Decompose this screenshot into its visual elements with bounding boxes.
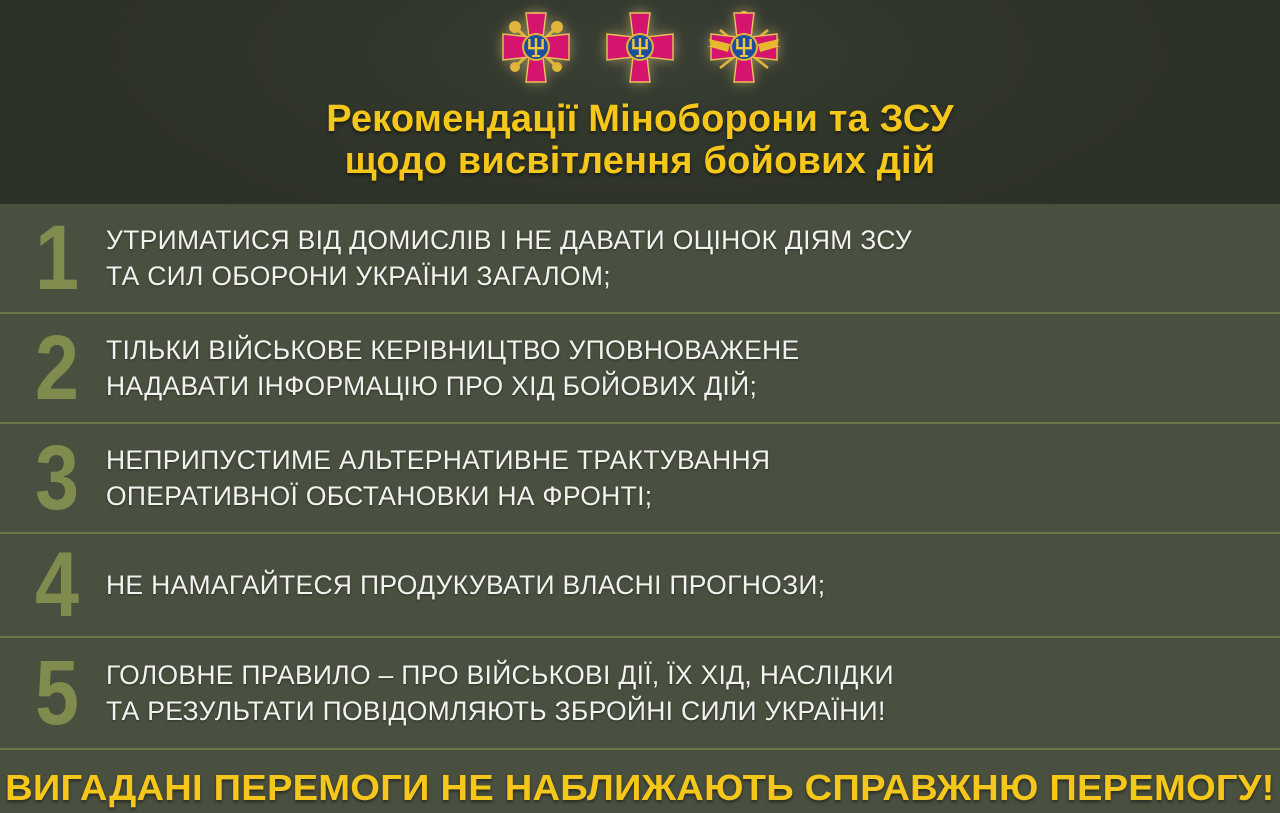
rule-text-1-line-1: УТРИМАТИСЯ ВІД ДОМИСЛІВ І НЕ ДАВАТИ ОЦІН… [106,222,912,258]
page-title: Рекомендації Міноборони та ЗСУ щодо висв… [0,92,1280,182]
rule-text-3-line-1: НЕПРИПУСТИМЕ АЛЬТЕРНАТИВНЕ ТРАКТУВАННЯ [106,442,770,478]
rule-text-5: ГОЛОВНЕ ПРАВИЛО – ПРО ВІЙСЬКОВІ ДІЇ, ЇХ … [100,657,894,729]
rule-item-4: 4 НЕ НАМАГАЙТЕСЯ ПРОДУКУВАТИ ВЛАСНІ ПРОГ… [0,534,1280,638]
rule-text-1-line-2: ТА СИЛ ОБОРОНИ УКРАЇНИ ЗАГАЛОМ; [106,258,912,294]
rule-text-3: НЕПРИПУСТИМЕ АЛЬТЕРНАТИВНЕ ТРАКТУВАННЯ О… [100,442,770,514]
title-line-1: Рекомендації Міноборони та ЗСУ [0,98,1280,140]
rule-item-3: 3 НЕПРИПУСТИМЕ АЛЬТЕРНАТИВНЕ ТРАКТУВАННЯ… [0,424,1280,534]
rule-text-4: НЕ НАМАГАЙТЕСЯ ПРОДУКУВАТИ ВЛАСНІ ПРОГНО… [100,567,825,603]
footer-banner: ВИГАДАНІ ПЕРЕМОГИ НЕ НАБЛИЖАЮТЬ СПРАВЖНЮ… [0,748,1280,813]
rule-text-1: УТРИМАТИСЯ ВІД ДОМИСЛІВ І НЕ ДАВАТИ ОЦІН… [100,222,912,294]
rule-text-5-line-2: ТА РЕЗУЛЬТАТИ ПОВІДОМЛЯЮТЬ ЗБРОЙНІ СИЛИ … [106,693,894,729]
rule-text-5-line-1: ГОЛОВНЕ ПРАВИЛО – ПРО ВІЙСЬКОВІ ДІЇ, ЇХ … [106,657,894,693]
title-line-2: щодо висвітлення бойових дій [0,140,1280,182]
rule-item-1: 1 УТРИМАТИСЯ ВІД ДОМИСЛІВ І НЕ ДАВАТИ ОЦ… [0,204,1280,314]
rule-text-2-line-1: ТІЛЬКИ ВІЙСЬКОВЕ КЕРІВНИЦТВО УПОВНОВАЖЕН… [106,332,799,368]
poster-root: Рекомендації Міноборони та ЗСУ щодо висв… [0,0,1280,813]
footer-slogan: ВИГАДАНІ ПЕРЕМОГИ НЕ НАБЛИЖАЮТЬ СПРАВЖНЮ… [5,768,1274,808]
emblem-row [0,0,1280,92]
header-banner: Рекомендації Міноборони та ЗСУ щодо висв… [0,0,1280,204]
rule-text-4-line-1: НЕ НАМАГАЙТЕСЯ ПРОДУКУВАТИ ВЛАСНІ ПРОГНО… [106,567,825,603]
rules-list: 1 УТРИМАТИСЯ ВІД ДОМИСЛІВ І НЕ ДАВАТИ ОЦ… [0,204,1280,748]
rule-number-2: 2 [20,325,94,411]
rule-number-3: 3 [20,435,94,521]
rule-item-5: 5 ГОЛОВНЕ ПРАВИЛО – ПРО ВІЙСЬКОВІ ДІЇ, Ї… [0,638,1280,748]
rule-text-3-line-2: ОПЕРАТИВНОЇ ОБСТАНОВКИ НА ФРОНТІ; [106,478,770,514]
rule-number-1: 1 [20,215,94,301]
armed-forces-emblem-icon [600,6,680,88]
rule-item-2: 2 ТІЛЬКИ ВІЙСЬКОВЕ КЕРІВНИЦТВО УПОВНОВАЖ… [0,314,1280,424]
rule-number-5: 5 [20,650,94,736]
rule-number-4: 4 [20,542,94,628]
rule-text-2: ТІЛЬКИ ВІЙСЬКОВЕ КЕРІВНИЦТВО УПОВНОВАЖЕН… [100,332,799,404]
general-staff-emblem-icon [496,6,576,88]
rule-text-2-line-2: НАДАВАТИ ІНФОРМАЦІЮ ПРО ХІД БОЙОВИХ ДІЙ; [106,368,799,404]
ministry-of-defence-emblem-icon [704,6,784,88]
